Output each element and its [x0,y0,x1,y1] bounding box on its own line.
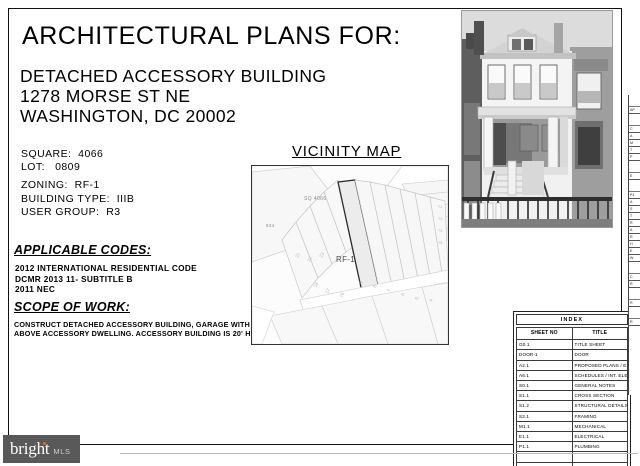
square-label: SQUARE: [21,148,71,160]
index-row-title: FRAMING [572,411,628,421]
index-row-title: CROSS SECTION [572,391,628,401]
watermark-brand: bright [10,439,49,459]
vicinity-map-zone-label: RF-1 [336,255,355,264]
user-group-label: USER GROUP: [21,206,99,218]
applicable-codes-list: 2012 INTERNATIONAL RESIDENTIAL CODE DCMR… [15,263,197,295]
index-row-sheet-no: G0.1 [517,340,573,350]
page-title: ARCHITECTURAL PLANS FOR: [22,22,401,51]
square-row: SQUARE: 4066 [21,148,134,161]
index-row-sheet-no: A6.1 [517,370,573,380]
building-type-row: BUILDING TYPE: IIIB [21,193,134,206]
index-row: S0.1GENERAL NOTES [517,381,628,391]
project-street-address: 1278 MORSE ST NE [20,86,326,106]
index-title: INDEX [516,314,628,325]
lot-label: LOT: [21,161,45,173]
edge-spacer [629,288,640,300]
edge-cell: M [629,140,640,147]
edge-cell: R [629,300,640,307]
index-row-title: MECHANICAL [572,421,628,431]
edge-cell: R [629,319,640,326]
square-value: 4066 [78,148,103,160]
edge-cell: P [629,154,640,161]
property-data-block: SQUARE: 4066 LOT: 0809 ZONING: RF-1 BUIL… [21,148,134,219]
index-row-title: ELECTRICAL [572,432,628,442]
index-row: M1.1MECHANICAL [517,421,628,431]
edge-cell: T [629,147,640,154]
scope-of-work-text: CONSTRUCT DETACHED ACCESSORY BUILDING, G… [14,320,264,339]
index-row: DOOR-1DOOR [517,350,628,360]
applicable-codes-heading: APPLICABLE CODES: [14,243,151,257]
index-body: G0.1TITLE SHEETDOOR-1DOORA2.1PROPOSED PL… [517,340,628,466]
svg-text:75: 75 [438,240,443,245]
edge-cell: W [629,255,640,262]
edge-cell: P1 [629,192,640,199]
edge-spacer [629,262,640,274]
index-row-title: DOOR [572,350,628,360]
lot-value: 0809 [55,161,80,173]
zoning-value: RF-1 [75,179,100,191]
code-item: 2011 NEC [15,284,197,295]
edge-cell: E [629,248,640,255]
index-row-sheet-no: A2.1 [517,360,573,370]
index-header-row: SHEET NO TITLE [517,328,628,340]
project-building-type: DETACHED ACCESSORY BUILDING [20,66,326,86]
index-row-sheet-no: S0.1 [517,381,573,391]
edge-cell: T [629,213,640,220]
index-row: S1.1CROSS SECTION [517,391,628,401]
index-row-title: PROPOSED PLANS / EXT. ELEV. [572,360,628,370]
edge-cell: A [629,133,640,140]
vicinity-map-heading: VICINITY MAP [292,143,401,160]
svg-text:74: 74 [438,228,443,233]
title-sheet-page: ARCHITECTURAL PLANS FOR: DETACHED ACCESS… [0,0,640,466]
edge-cell: C [629,126,640,133]
edge-spacer [629,180,640,192]
index-row: A6.1SCHEDULES / INT. ELEV. [517,370,628,380]
index-row-title: STRUCTURAL DETAILS [572,401,628,411]
index-row: G0.1TITLE SHEET [517,340,628,350]
index-row: A2.1PROPOSED PLANS / EXT. ELEV. [517,360,628,370]
edge-spacer [629,114,640,126]
edge-cell: S [629,206,640,213]
vicinity-map: 21 22 23 18 17 16 9 8 7 6 5 4 72 73 74 7… [251,165,449,345]
index-row-sheet-no: S1.1 [517,391,573,401]
vicinity-map-secondary-label: 834 [266,223,275,228]
edge-cell: R [629,234,640,241]
lot-row: LOT: 0809 [21,161,134,174]
code-item: 2012 INTERNATIONAL RESIDENTIAL CODE [15,263,197,274]
partial-titleblock-edge: AP C A M T P E P1 A S T R A R H E W C R … [628,95,640,395]
code-item: DCMR 2013 11- SUBTITLE B [15,274,197,285]
building-photo [461,10,613,228]
index-row: P1.1PLUMBING [517,442,628,452]
index-col-title: TITLE [572,328,628,340]
edge-spacer [629,95,640,107]
scope-line: ABOVE ACCESSORY DWELLING. ACCESSORY BUIL… [14,329,264,338]
watermark-rule [120,453,638,454]
zoning-row: ZONING: RF-1 [21,179,134,192]
index-row-sheet-no: E1.1 [517,432,573,442]
project-city-state-zip: WASHINGTON, DC 20002 [20,106,326,126]
user-group-row: USER GROUP: R3 [21,206,134,219]
svg-text:73: 73 [438,216,443,221]
building-type-value: IIIB [117,193,135,205]
scope-line: CONSTRUCT DETACHED ACCESSORY BUILDING, G… [14,320,264,329]
index-row-sheet-no: DOOR-1 [517,350,573,360]
index-col-sheet-no: SHEET NO [517,328,573,340]
edge-cell: R [629,220,640,227]
bright-mls-watermark: bright MLS [3,435,80,463]
edge-cell: A [629,199,640,206]
index-row-sheet-no [517,462,573,466]
index-row-title: SCHEDULES / INT. ELEV. [572,370,628,380]
scope-of-work-heading: SCOPE OF WORK: [14,300,130,314]
edge-cell: C [629,274,640,281]
watermark-accent-dot [43,442,46,445]
index-row-sheet-no: M1.1 [517,421,573,431]
watermark-suffix: MLS [53,447,70,456]
index-row-sheet-no: S2.1 [517,411,573,421]
index-row: E1.1ELECTRICAL [517,432,628,442]
zoning-label: ZONING: [21,179,68,191]
rowhouse-photo-illustration [462,11,612,227]
index-row-sheet-no: S1.2 [517,401,573,411]
index-row-title: PLUMBING [572,442,628,452]
index-row-title [572,462,628,466]
index-table: SHEET NO TITLE G0.1TITLE SHEETDOOR-1DOOR… [516,327,628,466]
edge-cell: R [629,281,640,288]
project-identification: DETACHED ACCESSORY BUILDING 1278 MORSE S… [20,66,326,126]
edge-spacer [629,307,640,319]
drawing-index: INDEX SHEET NO TITLE G0.1TITLE SHEETDOOR… [513,311,631,466]
user-group-value: R3 [106,206,120,218]
building-type-label: BUILDING TYPE: [21,193,110,205]
vicinity-map-square-label: SQ 4066 [304,196,327,202]
index-row-sheet-no: P1.1 [517,442,573,452]
index-row: S1.2STRUCTURAL DETAILS [517,401,628,411]
index-row [517,462,628,466]
index-row-title: GENERAL NOTES [572,381,628,391]
index-row: S2.1FRAMING [517,411,628,421]
edge-spacer [629,161,640,173]
edge-cell: H [629,241,640,248]
svg-text:72: 72 [438,204,443,209]
edge-cell: E [629,173,640,180]
edge-cell: A [629,227,640,234]
edge-cell: AP [629,107,640,114]
index-row-title: TITLE SHEET [572,340,628,350]
